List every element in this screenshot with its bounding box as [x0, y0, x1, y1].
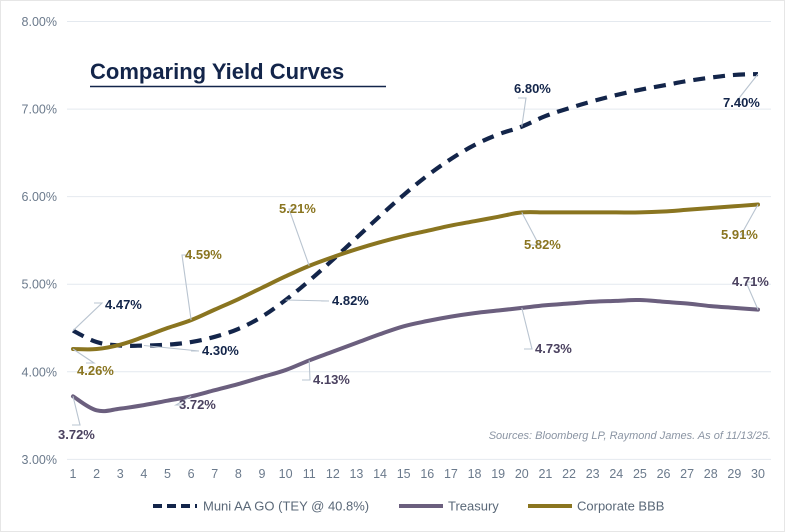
chart-canvas: 8.00% 7.00% 6.00% 5.00% 4.00% 3.00% 1234…: [1, 1, 785, 532]
x-tick-29: 29: [727, 467, 741, 481]
annotation-leaders: [72, 74, 758, 425]
x-tick-19: 19: [491, 467, 505, 481]
data-label-corporate-1: 4.26%: [77, 363, 114, 378]
data-label-treasury-20: 4.73%: [535, 341, 572, 356]
data-label-muni-30: 7.40%: [723, 95, 760, 110]
x-tick-2: 2: [93, 467, 100, 481]
leader-line-muni-20: [518, 98, 526, 127]
x-tick-20: 20: [515, 467, 529, 481]
data-label-treasury-6: 3.72%: [179, 397, 216, 412]
legend-item-corporate[interactable]: Corporate BBB: [528, 498, 664, 513]
leader-line-treasury-20: [522, 308, 532, 349]
x-tick-23: 23: [586, 467, 600, 481]
x-tick-15: 15: [397, 467, 411, 481]
data-label-muni-20: 6.80%: [514, 81, 551, 96]
x-tick-6: 6: [188, 467, 195, 481]
x-tick-3: 3: [117, 467, 124, 481]
x-tick-9: 9: [258, 467, 265, 481]
data-labels: 4.47% 4.30% 4.82% 6.80% 7.40% 3.72% 3.72…: [58, 81, 769, 442]
data-label-corporate-30: 5.91%: [721, 227, 758, 242]
leader-line-muni-1: [73, 303, 102, 331]
x-tick-17: 17: [444, 467, 458, 481]
legend-item-treasury[interactable]: Treasury: [399, 498, 499, 513]
x-tick-12: 12: [326, 467, 340, 481]
x-tick-13: 13: [349, 467, 363, 481]
legend-label-muni: Muni AA GO (TEY @ 40.8%): [203, 498, 369, 513]
x-tick-5: 5: [164, 467, 171, 481]
yield-curve-chart: 8.00% 7.00% 6.00% 5.00% 4.00% 3.00% 1234…: [0, 0, 785, 532]
x-tick-8: 8: [235, 467, 242, 481]
chart-title-group: Comparing Yield Curves: [90, 59, 386, 87]
x-tick-24: 24: [609, 467, 623, 481]
x-tick-1: 1: [70, 467, 77, 481]
x-tick-30: 30: [751, 467, 765, 481]
legend-label-treasury: Treasury: [448, 498, 499, 513]
data-label-muni-10: 4.82%: [332, 293, 369, 308]
chart-title: Comparing Yield Curves: [90, 59, 344, 84]
legend-item-muni[interactable]: Muni AA GO (TEY @ 40.8%): [153, 498, 369, 513]
data-label-treasury-1: 3.72%: [58, 427, 95, 442]
y-tick-6: 6.00%: [22, 190, 57, 204]
leader-line-corporate-6: [182, 255, 191, 320]
x-tick-25: 25: [633, 467, 647, 481]
y-tick-8: 8.00%: [22, 15, 57, 29]
data-label-treasury-11: 4.13%: [313, 372, 350, 387]
x-tick-28: 28: [704, 467, 718, 481]
data-label-corporate-11: 5.21%: [279, 201, 316, 216]
x-tick-26: 26: [657, 467, 671, 481]
x-tick-16: 16: [420, 467, 434, 481]
x-axis-tick-labels: 1234567891011121314151617181920212223242…: [70, 467, 765, 481]
x-tick-18: 18: [468, 467, 482, 481]
series-line-corporate: [73, 205, 758, 350]
x-tick-21: 21: [538, 467, 552, 481]
x-tick-7: 7: [211, 467, 218, 481]
x-tick-10: 10: [279, 467, 293, 481]
leader-line-corporate-11: [289, 209, 309, 266]
source-note: Sources: Bloomberg LP, Raymond James. As…: [489, 430, 771, 442]
y-tick-7: 7.00%: [22, 103, 57, 117]
x-tick-27: 27: [680, 467, 694, 481]
y-tick-4: 4.00%: [22, 365, 57, 379]
x-tick-4: 4: [140, 467, 147, 481]
chart-legend: Muni AA GO (TEY @ 40.8%) Treasury Corpor…: [153, 498, 664, 513]
y-axis-tick-labels: 8.00% 7.00% 6.00% 5.00% 4.00% 3.00%: [22, 15, 57, 467]
series-lines: [73, 74, 758, 411]
data-label-corporate-6: 4.59%: [185, 247, 222, 262]
data-label-treasury-30: 4.71%: [732, 274, 769, 289]
y-tick-5: 5.00%: [22, 278, 57, 292]
legend-label-corporate: Corporate BBB: [577, 498, 664, 513]
y-tick-3: 3.00%: [22, 453, 57, 467]
data-label-muni-4: 4.30%: [202, 343, 239, 358]
data-label-corporate-20: 5.82%: [524, 237, 561, 252]
leader-line-muni-10: [286, 300, 329, 301]
x-tick-11: 11: [303, 467, 316, 481]
x-tick-22: 22: [562, 467, 576, 481]
series-line-treasury: [73, 300, 758, 411]
x-tick-14: 14: [373, 467, 387, 481]
data-label-muni-1: 4.47%: [105, 297, 142, 312]
